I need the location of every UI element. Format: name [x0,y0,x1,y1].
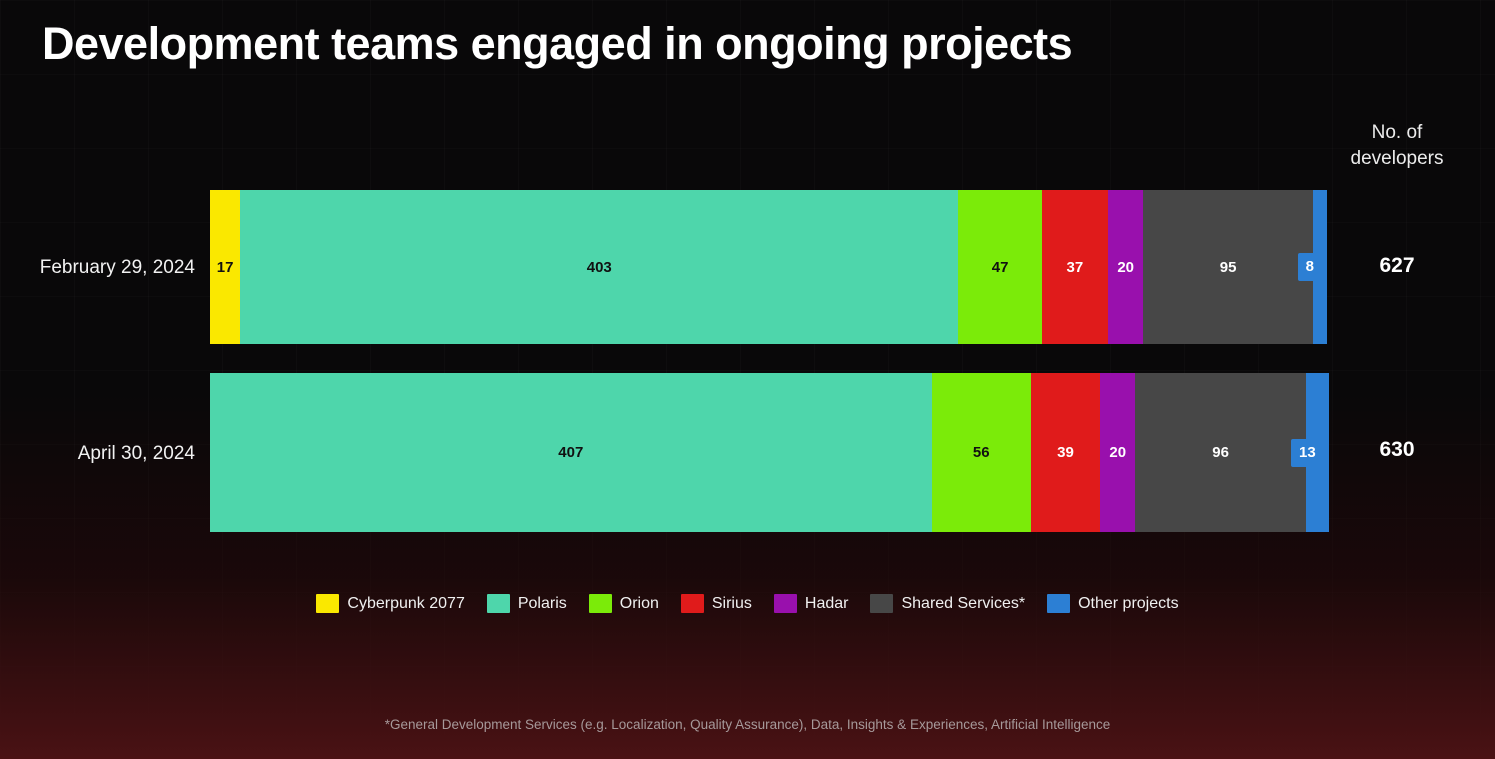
bar-segment-value: 39 [1057,444,1074,461]
legend-label: Shared Services* [901,595,1025,613]
legend-swatch-icon [487,594,510,613]
chart-legend: Cyberpunk 2077PolarisOrionSiriusHadarSha… [0,594,1495,613]
legend-item[interactable]: Cyberpunk 2077 [316,594,464,613]
legend-item[interactable]: Hadar [774,594,849,613]
bar-segment[interactable]: 37 [1042,190,1108,344]
legend-item[interactable]: Polaris [487,594,567,613]
bar-segment-value: 13 [1291,439,1323,467]
stacked-bar-chart: February 29, 202417403473720958627April … [0,0,1495,759]
bar-segment-value: 20 [1117,259,1134,276]
legend-swatch-icon [774,594,797,613]
legend-label: Sirius [712,595,752,613]
bar-segment[interactable]: 403 [240,190,958,344]
legend-label: Hadar [805,595,849,613]
legend-label: Polaris [518,595,567,613]
bar-segment-value: 47 [992,259,1009,276]
bar-segment[interactable]: 96 [1135,373,1305,532]
bar-segment[interactable]: 20 [1100,373,1135,532]
row-total-value: 627 [1317,254,1477,278]
bar-segment-value: 95 [1220,259,1237,276]
bar-segment-value: 56 [973,444,990,461]
bar-segment[interactable]: 407 [210,373,932,532]
legend-item[interactable]: Sirius [681,594,752,613]
bar-segment-value: 37 [1067,259,1084,276]
legend-swatch-icon [870,594,893,613]
stacked-bar[interactable]: 17403473720958 [210,190,1327,344]
row-total-value: 630 [1317,438,1477,462]
bar-segment-value: 20 [1109,444,1126,461]
bar-segment-value: 407 [558,444,583,461]
bar-segment[interactable]: 47 [958,190,1042,344]
bar-segment[interactable]: 20 [1108,190,1144,344]
bar-segment[interactable]: 56 [932,373,1031,532]
legend-swatch-icon [681,594,704,613]
bar-segment-value: 8 [1298,253,1321,281]
stacked-bar[interactable]: 4075639209613 [210,373,1327,532]
bar-segment[interactable]: 95 [1143,190,1312,344]
bar-segment-value: 17 [217,259,234,276]
legend-item[interactable]: Shared Services* [870,594,1025,613]
slide-canvas: Development teams engaged in ongoing pro… [0,0,1495,759]
bar-segment-value: 96 [1212,444,1229,461]
bar-segment[interactable]: 39 [1031,373,1100,532]
legend-swatch-icon [1047,594,1070,613]
legend-label: Orion [620,595,659,613]
row-category-label: February 29, 2024 [0,257,195,279]
bar-segment-value: 403 [587,259,612,276]
legend-swatch-icon [316,594,339,613]
legend-swatch-icon [589,594,612,613]
legend-item[interactable]: Orion [589,594,659,613]
row-category-label: April 30, 2024 [0,443,195,465]
bar-segment[interactable]: 17 [210,190,240,344]
legend-label: Cyberpunk 2077 [347,595,464,613]
legend-label: Other projects [1078,595,1178,613]
legend-item[interactable]: Other projects [1047,594,1178,613]
footnote: *General Development Services (e.g. Loca… [0,717,1495,732]
